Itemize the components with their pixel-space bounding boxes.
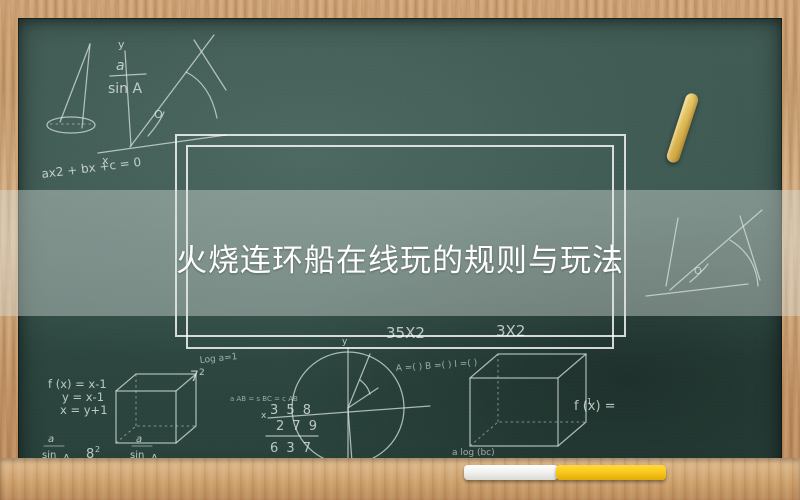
function-equations: f (x) = x-1 y = x-1 x = y+1 — [48, 377, 108, 417]
subtraction-problem: 3 5 8 2 7 9 6 3 7 — [266, 403, 319, 456]
angle-label-theta: O — [154, 108, 163, 121]
inverse-function-right: f (x) = -1 — [574, 397, 616, 414]
formula-fx-3: x = y+1 — [60, 403, 108, 417]
chalkboard-stage: a sin A y x O ax2 + bx +c = — [0, 0, 800, 500]
formula-small-eq: a AB = s BC = c AB — [230, 395, 298, 403]
cube-drawing-right — [470, 354, 586, 446]
svg-text:x: x — [261, 411, 267, 421]
circle-angle-diagram: y x — [261, 337, 430, 464]
formula-sine-sina: sin A — [108, 81, 143, 97]
chalk-tray — [0, 458, 800, 500]
formula-matrices: A =( ) B =( ) I =( ) — [396, 358, 478, 374]
svg-text:a: a — [136, 434, 142, 445]
formula-inverse-right: f (x) = — [574, 399, 616, 414]
sine-rule-formula: a sin A — [108, 58, 146, 97]
inverse-function-bottom: f (x) = x+1 — [208, 405, 281, 420]
axis-label-y: y — [118, 38, 125, 51]
seven-squared: 7 2 — [190, 368, 205, 385]
subtraction-line-2: 2 7 9 — [276, 419, 319, 434]
svg-text:a: a — [48, 434, 54, 445]
formula-eight-exp: 2 — [95, 445, 100, 454]
axis-label-x: x — [102, 154, 109, 167]
formula-sine-a: a — [116, 58, 125, 74]
subtraction-line-3: 6 3 7 — [270, 441, 313, 456]
page-title: 火烧连环船在线玩的规则与玩法 — [176, 235, 624, 280]
formula-seven: 7 — [190, 369, 199, 385]
formula-seven-exp: 2 — [199, 368, 205, 378]
cube-drawing-center — [116, 374, 196, 443]
formula-alog-bc: a log (bc) — [452, 448, 495, 458]
subtraction-line-1: 3 5 8 — [270, 403, 313, 418]
formula-fx-1: f (x) = x-1 — [48, 377, 107, 391]
title-area: 火烧连环船在线玩的规则与玩法 — [0, 222, 800, 292]
chalk-piece-yellow — [556, 465, 666, 480]
chalk-piece-white — [464, 465, 558, 480]
cone-drawing — [47, 44, 95, 133]
formula-log-a1: Log a=1 — [199, 352, 238, 366]
formula-inverse-right-exp: -1 — [584, 397, 592, 406]
formula-quadratic: ax2 + bx +c = 0 — [41, 155, 142, 181]
formula-fx-2: y = x-1 — [62, 390, 104, 404]
